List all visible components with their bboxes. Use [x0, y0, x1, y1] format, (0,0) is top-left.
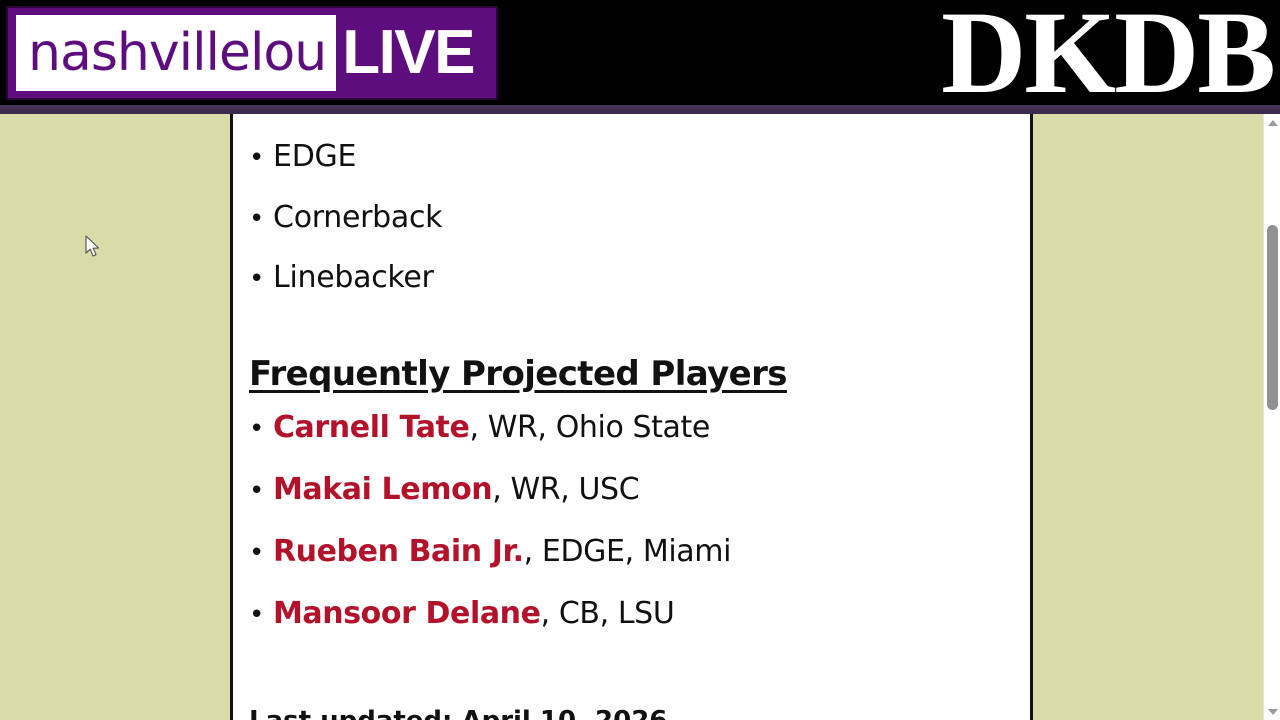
bullet-icon: • [249, 478, 264, 504]
scroll-up-arrow-icon[interactable] [1264, 114, 1280, 131]
scroll-down-arrow-icon[interactable] [1264, 703, 1280, 720]
chevron-down-icon [1268, 709, 1278, 715]
article-inner-wrapper: • EDGE • Cornerback • Linebacker Frequen… [233, 114, 1030, 720]
brand-name-plate: nashvillelou [16, 15, 336, 91]
player-details: , EDGE, Miami [524, 535, 731, 568]
position-label: Cornerback [273, 201, 442, 235]
list-item: • Carnell Tate , WR, Ohio State [249, 411, 1009, 444]
bullet-icon: • [249, 206, 264, 232]
list-item: • Linebacker [249, 261, 989, 295]
chevron-up-icon [1268, 120, 1278, 126]
mouse-cursor-icon [85, 235, 103, 259]
brand-wordmark: nashvillelou [28, 27, 326, 79]
page-scrollbar[interactable] [1263, 114, 1280, 720]
bullet-icon: • [249, 416, 264, 442]
player-name[interactable]: Mansoor Delane [273, 597, 541, 630]
bullet-icon: • [249, 540, 264, 566]
position-bullet-list: • EDGE • Cornerback • Linebacker [249, 140, 989, 322]
bullet-icon: • [249, 602, 264, 628]
page-background: • EDGE • Cornerback • Linebacker Frequen… [0, 114, 1280, 720]
section-heading: Frequently Projected Players [249, 354, 787, 394]
player-details: , CB, LSU [541, 597, 675, 630]
bullet-icon: • [249, 145, 264, 171]
list-item: • Makai Lemon , WR, USC [249, 473, 1009, 506]
position-label: Linebacker [273, 261, 434, 295]
player-name[interactable]: Makai Lemon [273, 473, 492, 506]
header-banner: nashvillelou LIVE DKDB [0, 0, 1280, 105]
list-item: • EDGE [249, 140, 989, 174]
dkdb-network-logo[interactable]: DKDB [941, 0, 1274, 105]
player-name[interactable]: Rueben Bain Jr. [273, 535, 524, 568]
position-label: EDGE [273, 140, 356, 174]
scrollbar-thumb[interactable] [1267, 225, 1278, 410]
nashvillelou-live-logo[interactable]: nashvillelou LIVE [6, 6, 498, 100]
list-item: • Cornerback [249, 201, 989, 235]
player-name[interactable]: Carnell Tate [273, 411, 470, 444]
player-details: , WR, USC [492, 473, 639, 506]
header-separator-highlight [0, 105, 1280, 109]
player-details: , WR, Ohio State [469, 411, 710, 444]
list-item: • Rueben Bain Jr. , EDGE, Miami [249, 535, 1009, 568]
brand-live-label: LIVE [342, 22, 474, 84]
header-separator-strip [0, 105, 1280, 114]
article-content-panel: • EDGE • Cornerback • Linebacker Frequen… [230, 114, 1033, 720]
last-updated-footnote: Last updated: April 10, 2026 [249, 706, 667, 720]
projected-players-list: • Carnell Tate , WR, Ohio State • Makai … [249, 411, 1009, 659]
list-item: • Mansoor Delane , CB, LSU [249, 597, 1009, 630]
bullet-icon: • [249, 266, 264, 292]
